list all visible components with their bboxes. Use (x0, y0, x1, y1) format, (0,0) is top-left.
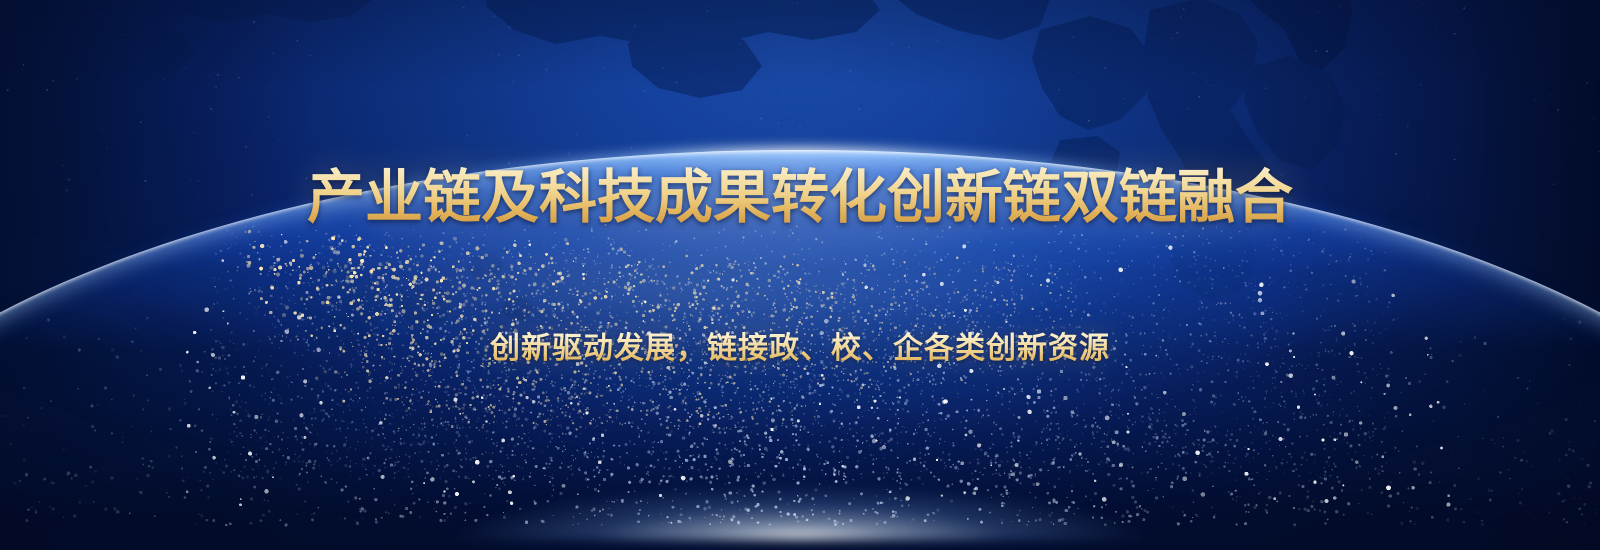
banner-text-block: 产业链及科技成果转化创新链双链融合 创新驱动发展，链接政、校、企各类创新资源 (0, 0, 1600, 550)
hero-banner: 产业链及科技成果转化创新链双链融合 创新驱动发展，链接政、校、企各类创新资源 (0, 0, 1600, 550)
banner-subtitle: 创新驱动发展，链接政、校、企各类创新资源 (0, 330, 1600, 368)
banner-title: 产业链及科技成果转化创新链双链融合 (0, 163, 1600, 233)
